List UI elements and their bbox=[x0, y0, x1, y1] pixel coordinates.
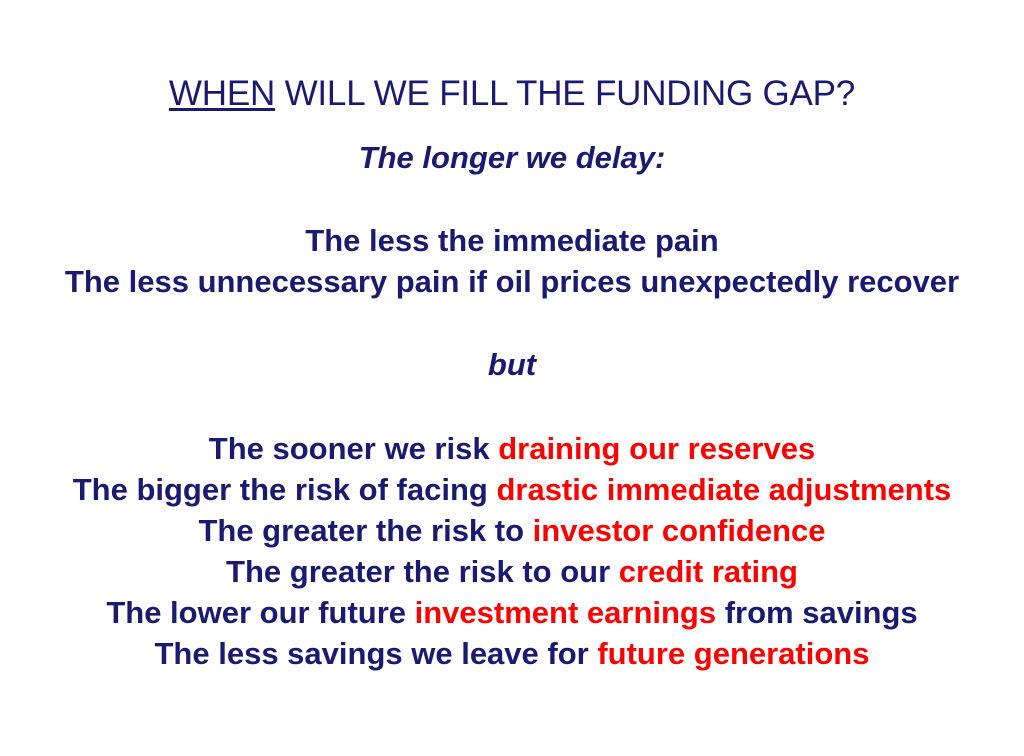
risk-line: The bigger the risk of facing drastic im… bbox=[0, 469, 1024, 510]
risk-suffix: from savings bbox=[716, 595, 918, 630]
risk-line: The greater the risk to our credit ratin… bbox=[0, 551, 1024, 592]
risk-highlight: investor confidence bbox=[533, 513, 826, 548]
title-underlined-word: WHEN bbox=[169, 74, 275, 113]
risk-highlight: drastic immediate adjustments bbox=[496, 472, 951, 507]
lead-in-text: The longer we delay: bbox=[0, 138, 1024, 178]
risk-highlight: investment earnings bbox=[415, 595, 716, 630]
risk-highlight: credit rating bbox=[619, 554, 798, 589]
risk-line: The less savings we leave for future gen… bbox=[0, 633, 1024, 674]
risk-line: The sooner we risk draining our reserves bbox=[0, 428, 1024, 469]
benefit-line: The less unnecessary pain if oil prices … bbox=[0, 261, 1024, 302]
title-rest: WILL WE FILL THE FUNDING GAP? bbox=[275, 74, 855, 113]
risk-prefix: The bigger the risk of facing bbox=[73, 472, 497, 507]
presentation-slide: WHEN WILL WE FILL THE FUNDING GAP? The l… bbox=[0, 0, 1024, 756]
risk-line: The greater the risk to investor confide… bbox=[0, 510, 1024, 551]
risk-line: The lower our future investment earnings… bbox=[0, 592, 1024, 633]
risk-prefix: The greater the risk to bbox=[198, 513, 532, 548]
risk-prefix: The less savings we leave for bbox=[155, 636, 598, 671]
benefit-line: The less the immediate pain bbox=[0, 220, 1024, 261]
risk-prefix: The sooner we risk bbox=[209, 431, 498, 466]
risks-list: The sooner we risk draining our reserves… bbox=[0, 428, 1024, 674]
risk-prefix: The lower our future bbox=[106, 595, 414, 630]
connector-text: but bbox=[0, 345, 1024, 385]
page-title: WHEN WILL WE FILL THE FUNDING GAP? bbox=[0, 73, 1024, 115]
risk-highlight: draining our reserves bbox=[498, 431, 815, 466]
benefits-list: The less the immediate pain The less unn… bbox=[0, 220, 1024, 302]
risk-highlight: future generations bbox=[597, 636, 869, 671]
risk-prefix: The greater the risk to our bbox=[226, 554, 619, 589]
